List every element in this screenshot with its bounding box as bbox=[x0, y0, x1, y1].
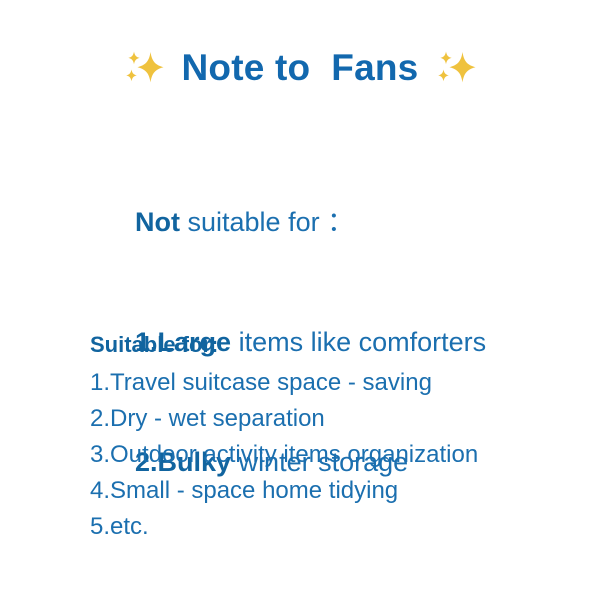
sparkles-icon bbox=[120, 44, 168, 92]
suitable-item: 2.Dry - wet separation bbox=[90, 401, 580, 437]
suitable-heading: Suitable for: bbox=[90, 328, 580, 361]
suitable-item: 5.etc. bbox=[90, 509, 580, 545]
not-suitable-heading-bold: Not bbox=[135, 207, 180, 237]
suitable-section: Suitable for: 1.Travel suitcase space - … bbox=[90, 328, 580, 545]
page-title: Note to Fans bbox=[182, 48, 419, 89]
suitable-item: 3.Outdoor activity items organization bbox=[90, 437, 580, 473]
title-row: Note to Fans bbox=[0, 44, 600, 92]
suitable-item: 1.Travel suitcase space - saving bbox=[90, 365, 580, 401]
sparkles-icon bbox=[432, 44, 480, 92]
not-suitable-heading-rest: suitable for ： bbox=[180, 207, 354, 237]
note-to-fans-graphic: Note to Fans Not suitable for ： 1.Large … bbox=[0, 0, 600, 600]
suitable-item: 4.Small - space home tidying bbox=[90, 473, 580, 509]
not-suitable-heading: Not suitable for ： bbox=[90, 162, 560, 282]
